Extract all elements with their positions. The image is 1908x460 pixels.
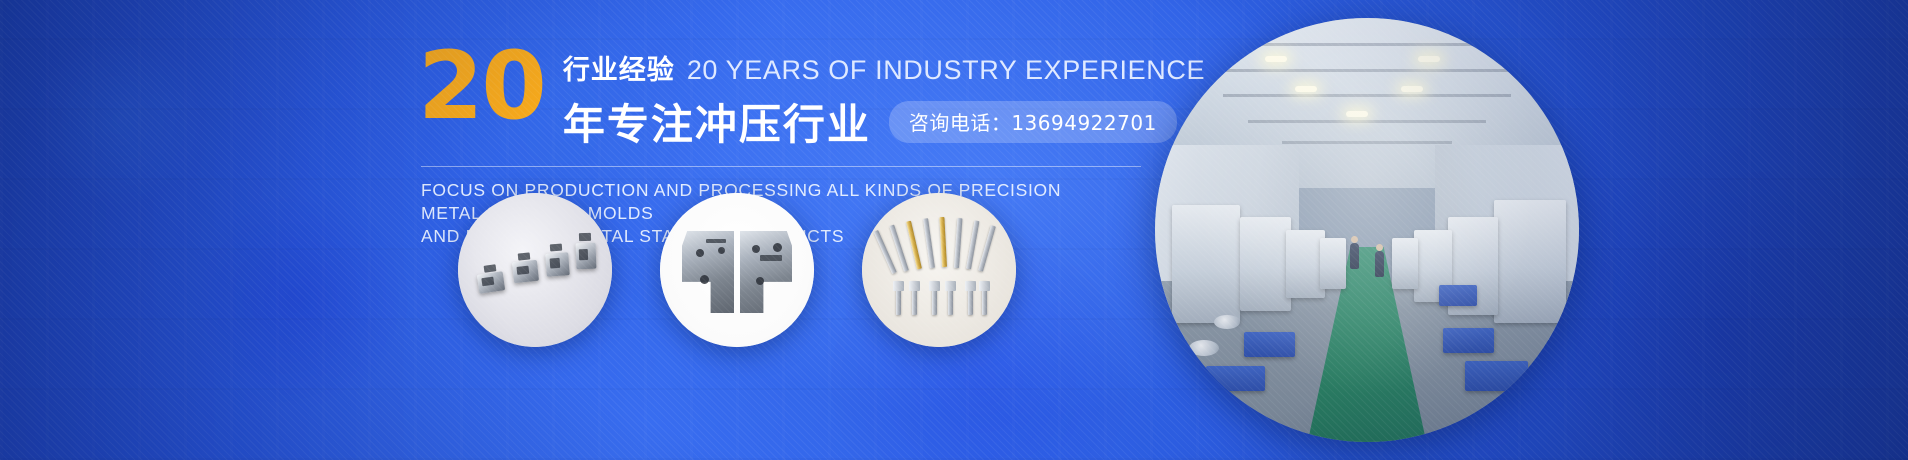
pin-head [945,281,956,291]
tagline-cn-small: 行业经验 [563,48,675,87]
terminal-pin-lower [932,281,937,315]
headline-row: 20 行业经验 20 YEARS OF INDUSTRY EXPERIENCE … [418,40,1178,152]
product-circle-terminal-pins[interactable] [862,193,1016,347]
mold-hole [752,245,760,253]
mold-slot [760,255,782,261]
tagline-en-small: 20 YEARS OF INDUSTRY EXPERIENCE [687,55,1205,86]
headline-text-group: 行业经验 20 YEARS OF INDUSTRY EXPERIENCE 年专注… [563,40,1205,152]
pin-head [965,281,976,291]
mold-hole [773,243,782,252]
factory-lighting-haze [1155,18,1579,442]
mold-hole [696,249,704,257]
connector-tab [550,244,562,252]
mold-slot [706,239,726,243]
pin-head [979,281,990,291]
mold-hole [756,277,764,285]
phone-consult-badge[interactable]: 咨询电话：13694922701 [889,101,1177,143]
connector-part [477,271,505,293]
connector-part [545,252,570,277]
terminal-pin-lower [912,281,917,315]
terminal-pin-lower [982,281,987,315]
factory-workshop-photo[interactable] [1155,18,1579,442]
pin-head [893,281,904,291]
tagline-line-2: 年专注冲压行业 咨询电话：13694922701 [563,91,1205,152]
mold-hole [700,275,709,284]
terminal-pin-lower [968,281,973,315]
mold-hole [718,247,725,254]
years-number: 20 [418,44,545,130]
pin-head [909,281,920,291]
product-circle-stamping-mold[interactable] [660,193,814,347]
headline-divider [421,166,1141,167]
connector-part [576,243,597,270]
terminal-pin-lower [896,281,901,315]
pin-head [929,281,940,291]
tagline-line-1: 行业经验 20 YEARS OF INDUSTRY EXPERIENCE [563,48,1205,87]
product-circle-connectors[interactable] [458,193,612,347]
tagline-cn-big: 年专注冲压行业 [563,91,871,152]
connector-tab [579,233,591,241]
connector-part [512,260,539,283]
connector-tab [518,252,531,260]
terminal-pin-lower [948,281,953,315]
circle-background [862,193,1016,347]
hero-banner: 20 行业经验 20 YEARS OF INDUSTRY EXPERIENCE … [0,0,1908,460]
